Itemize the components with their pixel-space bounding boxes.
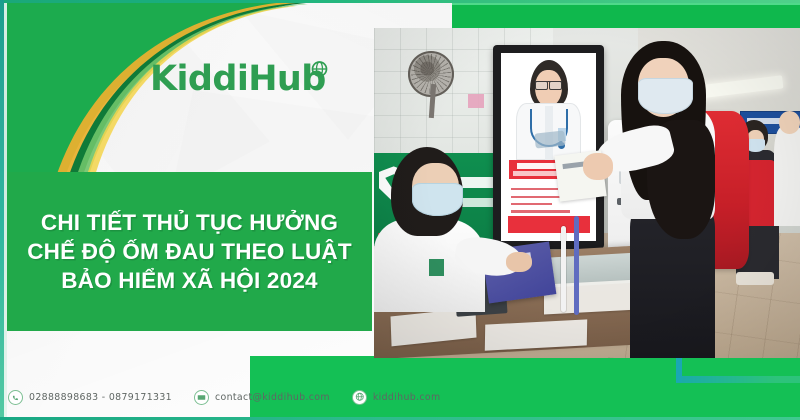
headline-line-1: CHI TIẾT THỦ TỤC HƯỞNG: [41, 208, 338, 237]
website-text: kiddihub.com: [373, 392, 441, 403]
phone-icon: [8, 390, 23, 405]
left-inner-edge: [4, 3, 7, 417]
photo-scene: [374, 28, 800, 358]
headline-block: CHI TIẾT THỦ TỤC HƯỞNG CHẾ ĐỘ ỐM ĐAU THE…: [7, 172, 372, 331]
globe-balloon-icon: [311, 61, 328, 78]
globe-icon: [352, 390, 367, 405]
teal-accent-horizontal: [676, 376, 800, 383]
left-edge-line: [0, 0, 4, 420]
logo-wordmark: KiddiHub: [150, 62, 326, 97]
banner: KiddiHub CHI TIẾT THỦ TỤC HƯỞNG CHẾ ĐỘ Ố…: [0, 0, 800, 420]
mail-icon: [194, 390, 209, 405]
hospital-reception-photo: [374, 28, 800, 358]
photo-vignette: [374, 28, 800, 358]
headline-line-2: CHẾ ĐỘ ỐM ĐAU THEO LUẬT: [27, 237, 352, 266]
top-edge-line: [0, 0, 800, 3]
contact-email[interactable]: contact@kiddihub.com: [194, 390, 330, 405]
phone-number-text: 02888898683 - 0879171331: [29, 392, 172, 403]
contact-website[interactable]: kiddihub.com: [352, 390, 441, 405]
contact-phone[interactable]: 02888898683 - 0879171331: [8, 390, 172, 405]
email-text: contact@kiddihub.com: [215, 392, 330, 403]
headline-line-3: BẢO HIỂM XÃ HỘI 2024: [61, 266, 318, 295]
footer-contact-bar: 02888898683 - 0879171331 contact@kiddihu…: [8, 380, 448, 414]
kiddihub-logo[interactable]: KiddiHub: [150, 62, 328, 97]
